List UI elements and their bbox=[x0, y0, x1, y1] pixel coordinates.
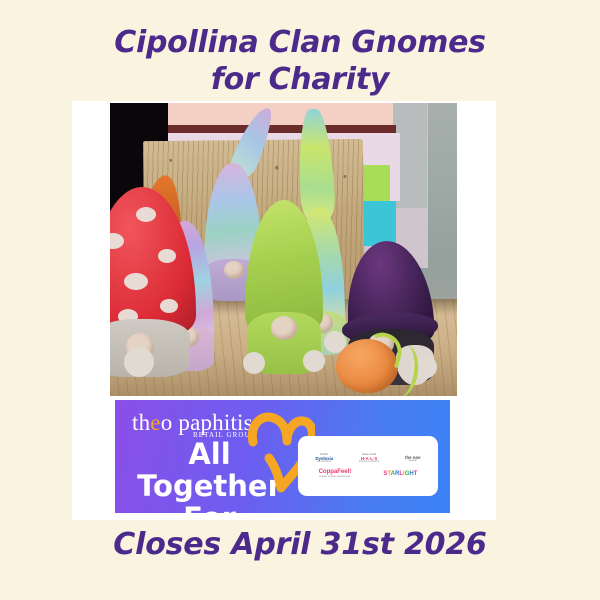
logo-name: STARLIGHT bbox=[383, 471, 417, 477]
theo-paphitis-banner: theo paphitis RETAIL GROUP All Together … bbox=[115, 400, 450, 513]
brand-pre: th bbox=[132, 410, 150, 435]
photo-card: theo paphitis RETAIL GROUP All Together … bbox=[72, 101, 496, 520]
logo-helen-arkell: Helen Arkell H·A·L·S Dyslexia Charity bbox=[359, 453, 379, 464]
brand-e: e bbox=[150, 410, 160, 435]
closing-date: Closes April 31st 2026 bbox=[0, 527, 600, 562]
gnome-nose bbox=[271, 316, 297, 340]
gnome-photograph bbox=[110, 103, 457, 396]
logo-british-dyslexia: British Dyslexia Association bbox=[315, 453, 333, 464]
felted-pumpkin bbox=[336, 339, 422, 396]
gnome-nose bbox=[224, 261, 244, 279]
logo-starlight: STARLIGHT bbox=[383, 471, 417, 478]
gnome-hat bbox=[110, 187, 196, 335]
charity-logo-card: British Dyslexia Association Helen Arkel… bbox=[298, 436, 438, 496]
pumpkin-vine-icon bbox=[385, 343, 422, 396]
charity-logo-row-bottom: CoppaFeel! breast cancer awareness STARL… bbox=[305, 469, 431, 479]
charity-logo-row-top: British Dyslexia Association Helen Arkel… bbox=[305, 453, 431, 464]
logo-coppafeel: CoppaFeel! breast cancer awareness bbox=[319, 469, 352, 479]
charity-poster: Cipollina Clan Gnomes for Charity bbox=[0, 0, 600, 600]
logo-one-appeal: the one appeal bbox=[405, 455, 421, 463]
gnome-red-toadstool bbox=[110, 187, 198, 387]
gnome-hat bbox=[245, 200, 323, 330]
page-title: Cipollina Clan Gnomes for Charity bbox=[0, 24, 600, 98]
gnome-green bbox=[245, 200, 323, 378]
